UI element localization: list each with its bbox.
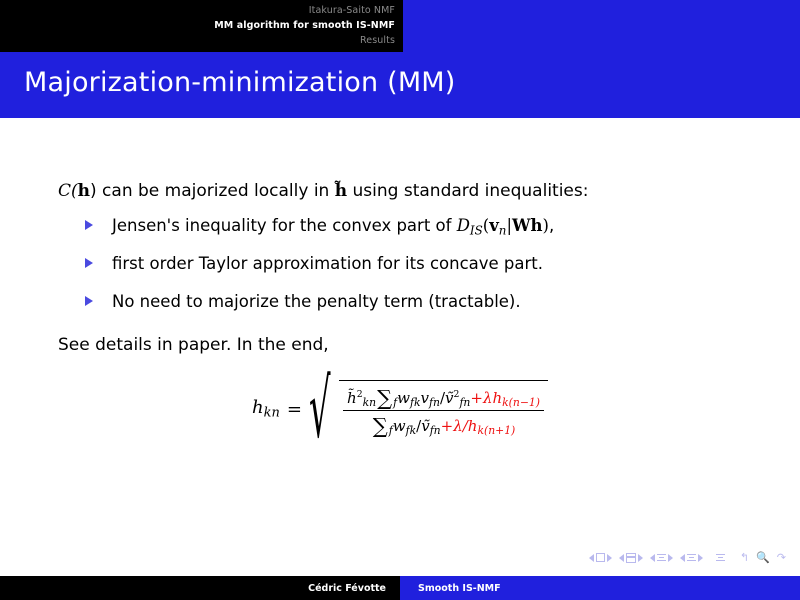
nav-prev-slide-icon[interactable] (589, 554, 594, 562)
num-red-sub: k(n−1) (502, 396, 540, 409)
footer-author: Cédric Févotte (0, 576, 400, 600)
num-vtilde: ṽ (445, 389, 453, 407)
equation-inner: hkn = √ h̃2kn∑fwfkvfn/ṽ2fn+λhk(n−1) ∑fw… (252, 380, 548, 438)
slide-title: Majorization-minimization (MM) (24, 66, 456, 100)
nav-next-frame-icon[interactable] (638, 554, 643, 562)
closing-sentence: See details in paper. In the end, (58, 334, 329, 356)
nav-group-frame[interactable] (619, 553, 643, 563)
den-vtilde: ṽ (421, 417, 429, 435)
lead-sentence: C(h) can be majorized locally in h̃ usin… (58, 180, 588, 202)
fraction-numerator: h̃2kn∑fwfkvfn/ṽ2fn+λhk(n−1) (343, 383, 544, 411)
triangle-right-icon (85, 258, 93, 268)
beamer-navigation-symbols: ↰ 🔍 ↷ (589, 552, 786, 563)
nav-document-icon[interactable] (716, 554, 725, 561)
num-v-sub: fn (429, 396, 440, 409)
den-red-term: +λ/h (441, 417, 478, 435)
nav-prev-section-icon[interactable] (680, 554, 685, 562)
nav-group-section[interactable] (680, 554, 703, 562)
nav-prev-subsection-icon[interactable] (650, 554, 655, 562)
header-nav-item-itakura-saito-nmf[interactable]: Itakura-Saito NMF (0, 3, 395, 18)
bullet-math-Wh: Wh (512, 216, 543, 235)
bullet-text-1: Jensen's inequality for the convex part … (112, 216, 457, 235)
lead-text-end: using standard inequalities: (347, 181, 588, 201)
bullet-list: Jensen's inequality for the convex part … (84, 216, 554, 330)
den-red-sub: k(n+1) (477, 424, 515, 437)
footer-subject: Smooth IS-NMF (400, 576, 800, 600)
num-sum-symbol: ∑ (377, 386, 392, 410)
lead-c-open: C( (58, 181, 78, 201)
nav-frame-icon[interactable] (626, 553, 636, 563)
num-w: w (397, 389, 410, 407)
nav-prev-frame-icon[interactable] (619, 554, 624, 562)
bullet-math-D: D (457, 216, 470, 235)
header-navigation-box: Itakura-Saito NMF MM algorithm for smoot… (0, 0, 403, 52)
fraction-denominator: ∑fwfk/ṽfn+λ/hk(n+1) (368, 411, 520, 438)
equation-fraction: h̃2kn∑fwfkvfn/ṽ2fn+λhk(n−1) ∑fwfk/ṽfn+… (343, 383, 544, 438)
num-h-sub: kn (363, 396, 377, 409)
nav-group-slide[interactable] (589, 553, 612, 562)
equation-equals-sign: = (287, 399, 302, 420)
num-w-sub: fk (410, 396, 421, 409)
bullet-text-2: first order Taylor approximation for its… (112, 254, 543, 273)
radical-body: h̃2kn∑fwfkvfn/ṽ2fn+λhk(n−1) ∑fwfk/ṽfn+… (339, 380, 548, 438)
nav-forward-icon[interactable]: ↷ (777, 552, 786, 563)
list-item: Jensen's inequality for the convex part … (84, 216, 554, 254)
nav-next-slide-icon[interactable] (607, 554, 612, 562)
square-root-icon: √ (309, 370, 331, 451)
nav-next-section-icon[interactable] (698, 554, 703, 562)
list-item: No need to majorize the penalty term (tr… (84, 292, 554, 330)
bullet-math-IS: IS (470, 223, 483, 237)
list-item: first order Taylor approximation for its… (84, 254, 554, 292)
num-red-term: +λh (470, 389, 502, 407)
num-h-tilde: h̃ (347, 389, 357, 407)
num-vtilde-sub: fn (459, 396, 470, 409)
den-w-sub: fk (406, 424, 417, 437)
nav-subsection-icon[interactable] (657, 554, 666, 561)
triangle-right-icon (85, 296, 93, 306)
den-vtilde-sub: fn (430, 424, 441, 437)
header-nav-item-results[interactable]: Results (0, 33, 395, 48)
lead-tilde-h: h̃ (335, 180, 347, 202)
bullet-text-3: No need to majorize the penalty term (tr… (112, 292, 521, 311)
bullet-math-v: v (489, 216, 499, 235)
header-nav-item-mm-algorithm[interactable]: MM algorithm for smooth IS-NMF (0, 18, 395, 33)
equation-radical: √ h̃2kn∑fwfkvfn/ṽ2fn+λhk(n−1) ∑fwfk/ṽf… (309, 380, 548, 438)
equation-lhs-var: h (252, 397, 264, 418)
title-band: Majorization-minimization (MM) (0, 52, 800, 118)
header-bar: Itakura-Saito NMF MM algorithm for smoot… (0, 0, 800, 52)
equation-lhs: hkn (252, 397, 280, 421)
bullet-text-1-after: , (549, 216, 554, 235)
den-w: w (393, 417, 406, 435)
display-equation: hkn = √ h̃2kn∑fwfkvfn/ṽ2fn+λhk(n−1) ∑fw… (0, 380, 800, 438)
nav-slide-icon[interactable] (596, 553, 605, 562)
triangle-right-icon (85, 220, 93, 230)
nav-back-icon[interactable]: ↰ (740, 552, 749, 563)
den-sum-symbol: ∑ (373, 414, 388, 438)
nav-search-icon[interactable]: 🔍 (756, 552, 770, 563)
footer-bar: Cédric Févotte Smooth IS-NMF (0, 576, 800, 600)
nav-next-subsection-icon[interactable] (668, 554, 673, 562)
nav-section-icon[interactable] (687, 554, 696, 561)
lead-bold-h: h (78, 181, 90, 201)
lead-text-middle: ) can be majorized locally in (90, 181, 335, 201)
nav-group-subsection[interactable] (650, 554, 673, 562)
num-v: v (421, 389, 429, 407)
slide-body: C(h) can be majorized locally in h̃ usin… (0, 118, 800, 558)
equation-lhs-sub: kn (264, 406, 280, 421)
